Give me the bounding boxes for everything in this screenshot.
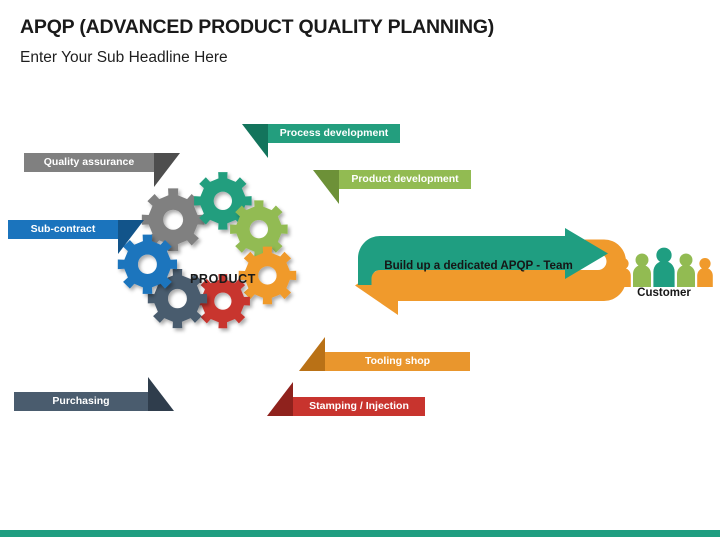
purchasing-tag-tail	[148, 377, 174, 411]
arrow-loop-svg	[336, 228, 626, 316]
tooling-shop-tag[interactable]: Tooling shop	[325, 352, 470, 371]
purchasing-tag[interactable]: Purchasing	[14, 392, 148, 411]
customer-figure-1	[615, 258, 631, 287]
customer-figure-2	[633, 254, 651, 287]
customer-figure-3	[653, 248, 674, 287]
stamping-injection-tag-label: Stamping / Injection	[309, 400, 409, 412]
customer-label: Customer	[612, 287, 716, 299]
sub-contract-tag-tail	[118, 220, 144, 254]
product-development-gear[interactable]	[230, 200, 288, 258]
customer-icon-group	[612, 243, 716, 287]
process-development-tag-label: Process development	[280, 127, 389, 139]
customer-figure-4	[677, 254, 695, 287]
product-development-tag-tail	[313, 170, 339, 204]
process-development-tag-tail	[242, 124, 268, 158]
sub-contract-tag[interactable]: Sub-contract	[8, 220, 118, 239]
purchasing-tag-label: Purchasing	[52, 395, 109, 407]
customer-people-svg	[612, 243, 716, 287]
tooling-shop-tag-tail	[299, 337, 325, 371]
apqp-team-arrow-loop	[336, 228, 626, 316]
quality-assurance-tag-tail	[154, 153, 180, 187]
accent-bar	[0, 530, 720, 537]
product-development-tag-label: Product development	[351, 173, 458, 185]
sub-contract-tag-label: Sub-contract	[31, 223, 96, 235]
tooling-shop-tag-label: Tooling shop	[365, 355, 430, 367]
slide-canvas: APQP (ADVANCED PRODUCT QUALITY PLANNING)…	[0, 0, 720, 540]
customer-figure-5	[697, 258, 713, 287]
gear-cluster	[130, 178, 330, 358]
stamping-injection-tag[interactable]: Stamping / Injection	[293, 397, 425, 416]
process-development-tag[interactable]: Process development	[268, 124, 400, 143]
apqp-team-label: Build up a dedicated APQP - Team	[371, 259, 586, 272]
page-subtitle: Enter Your Sub Headline Here	[20, 49, 228, 67]
product-center-label: PRODUCT	[190, 272, 256, 286]
quality-assurance-tag[interactable]: Quality assurance	[24, 153, 154, 172]
page-title: APQP (ADVANCED PRODUCT QUALITY PLANNING)	[20, 16, 494, 39]
product-development-tag[interactable]: Product development	[339, 170, 471, 189]
quality-assurance-tag-label: Quality assurance	[44, 156, 134, 168]
stamping-injection-tag-tail	[267, 382, 293, 416]
